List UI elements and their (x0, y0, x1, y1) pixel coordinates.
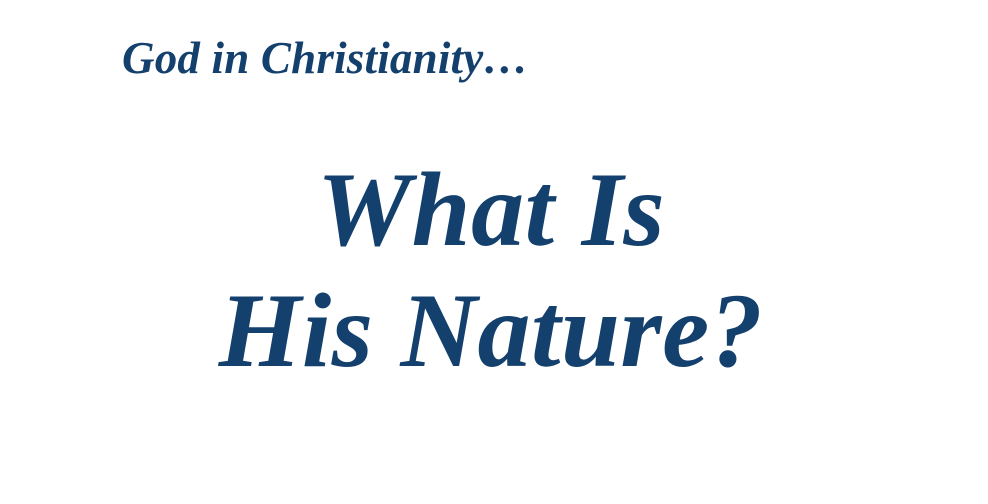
slide-title-line-2: His Nature? (0, 271, 988, 392)
slide-title-line-1: What Is (0, 150, 988, 271)
slide-kicker: God in Christianity… (122, 36, 822, 82)
slide-canvas: God in Christianity… What Is His Nature? (0, 0, 988, 504)
slide-title-block: What Is His Nature? (0, 150, 988, 392)
